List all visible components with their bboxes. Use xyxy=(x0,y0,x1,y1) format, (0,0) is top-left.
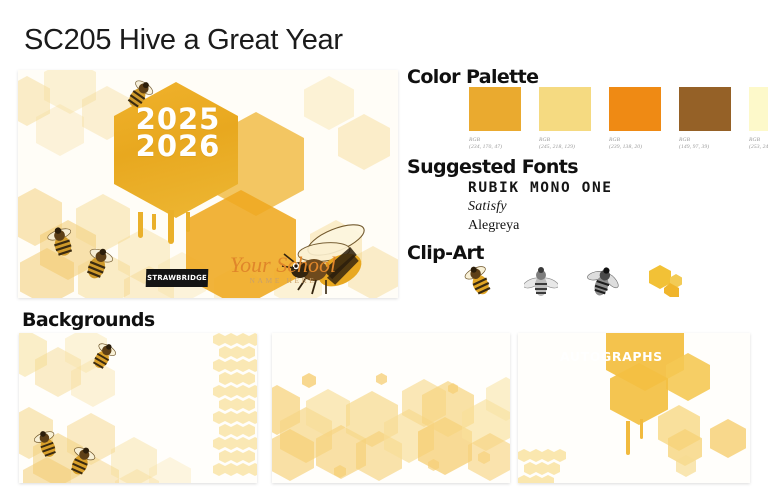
swatch-item[interactable]: RGB (245, 218, 129) xyxy=(539,87,591,151)
strawbridge-logo: STRAWBRIDGE xyxy=(146,269,209,287)
clipart-grey-bee-icon[interactable] xyxy=(524,264,558,298)
background-panel-hexagon-band[interactable] xyxy=(272,333,510,483)
swatch-label: RGB (234, 170, 47) xyxy=(469,137,521,151)
swatch-label-mode: RGB xyxy=(749,137,768,144)
bee-illustration-lower-centre xyxy=(63,445,99,479)
suggested-fonts-list: RUBIK MONO ONE Satisfy Alegreya xyxy=(468,180,613,237)
color-swatch[interactable] xyxy=(539,87,591,131)
suggested-fonts-heading: Suggested Fonts xyxy=(407,156,578,178)
yearbook-cover-preview[interactable]: 2025 2026 xyxy=(18,70,398,298)
autographs-label: AUTOGRAPHS xyxy=(560,349,663,364)
swatch-item[interactable]: RGB (234, 170, 47) xyxy=(469,87,521,151)
color-swatch[interactable] xyxy=(469,87,521,131)
swatch-label-mode: RGB xyxy=(679,137,731,144)
paint-drip xyxy=(152,214,156,230)
cover-year-line-2: 2026 xyxy=(122,133,234,160)
color-swatch[interactable] xyxy=(749,87,768,131)
paint-drip xyxy=(168,210,174,244)
swatch-label-rgb: (253, 249, 202) xyxy=(749,144,768,151)
paint-drip xyxy=(626,421,630,455)
swatch-label: RGB (253, 249, 202) xyxy=(749,137,768,151)
cover-school-name-placeholder: NAME HERE xyxy=(208,276,358,285)
swatch-label-rgb: (234, 170, 47) xyxy=(469,144,521,151)
paint-drip xyxy=(138,212,143,238)
swatch-item[interactable]: RGB (253, 249, 202) xyxy=(749,87,768,151)
bee-illustration-top-left xyxy=(122,78,156,112)
background-honeycomb-pattern-corner xyxy=(518,447,578,483)
strawbridge-logo-text: STRAWBRIDGE xyxy=(147,274,207,282)
clipart-dark-bee-icon[interactable] xyxy=(586,264,620,298)
background-panel-bees-and-honeycomb[interactable] xyxy=(19,333,257,483)
swatch-label: RGB (239, 138, 20) xyxy=(609,137,661,151)
bee-illustration-lower-left xyxy=(29,429,65,461)
swatch-label-rgb: (149, 97, 39) xyxy=(679,144,731,151)
clipart-honeycomb-hexagons-icon[interactable] xyxy=(648,264,682,298)
font-sample-rubik-mono-one: RUBIK MONO ONE xyxy=(468,180,613,196)
swatch-label: RGB (149, 97, 39) xyxy=(679,137,731,151)
color-palette-swatches: RGB (234, 170, 47) RGB (245, 218, 129) R… xyxy=(469,87,768,151)
bee-illustration-bottom-left xyxy=(42,226,82,260)
bee-illustration-bottom-centre xyxy=(78,246,118,282)
color-swatch[interactable] xyxy=(679,87,731,131)
paint-drip xyxy=(186,212,190,232)
paint-drip xyxy=(640,419,643,439)
cover-year: 2025 2026 xyxy=(122,106,234,160)
swatch-label-mode: RGB xyxy=(469,137,521,144)
background-honeycomb-pattern-strip xyxy=(213,333,257,483)
font-sample-alegreya: Alegreya xyxy=(468,218,613,234)
bee-illustration-top xyxy=(87,341,119,373)
backgrounds-heading: Backgrounds xyxy=(22,309,155,331)
clip-art-heading: Clip-Art xyxy=(407,242,484,264)
font-sample-satisfy: Satisfy xyxy=(468,199,613,215)
color-swatch[interactable] xyxy=(609,87,661,131)
clip-art-row xyxy=(462,264,682,298)
swatch-label: RGB (245, 218, 129) xyxy=(539,137,591,151)
background-panel-autographs[interactable]: AUTOGRAPHS xyxy=(518,333,750,483)
color-palette-heading: Color Palette xyxy=(407,66,538,88)
swatch-item[interactable]: RGB (239, 138, 20) xyxy=(609,87,661,151)
swatch-label-mode: RGB xyxy=(539,137,591,144)
swatch-item[interactable]: RGB (149, 97, 39) xyxy=(679,87,731,151)
swatch-label-mode: RGB xyxy=(609,137,661,144)
swatch-label-rgb: (245, 218, 129) xyxy=(539,144,591,151)
swatch-label-rgb: (239, 138, 20) xyxy=(609,144,661,151)
cover-school-name: Your School xyxy=(208,252,358,278)
clipart-golden-bee-icon[interactable] xyxy=(462,264,496,298)
background-hexagon-band xyxy=(272,333,510,483)
page-title: SC205 Hive a Great Year xyxy=(24,24,343,57)
